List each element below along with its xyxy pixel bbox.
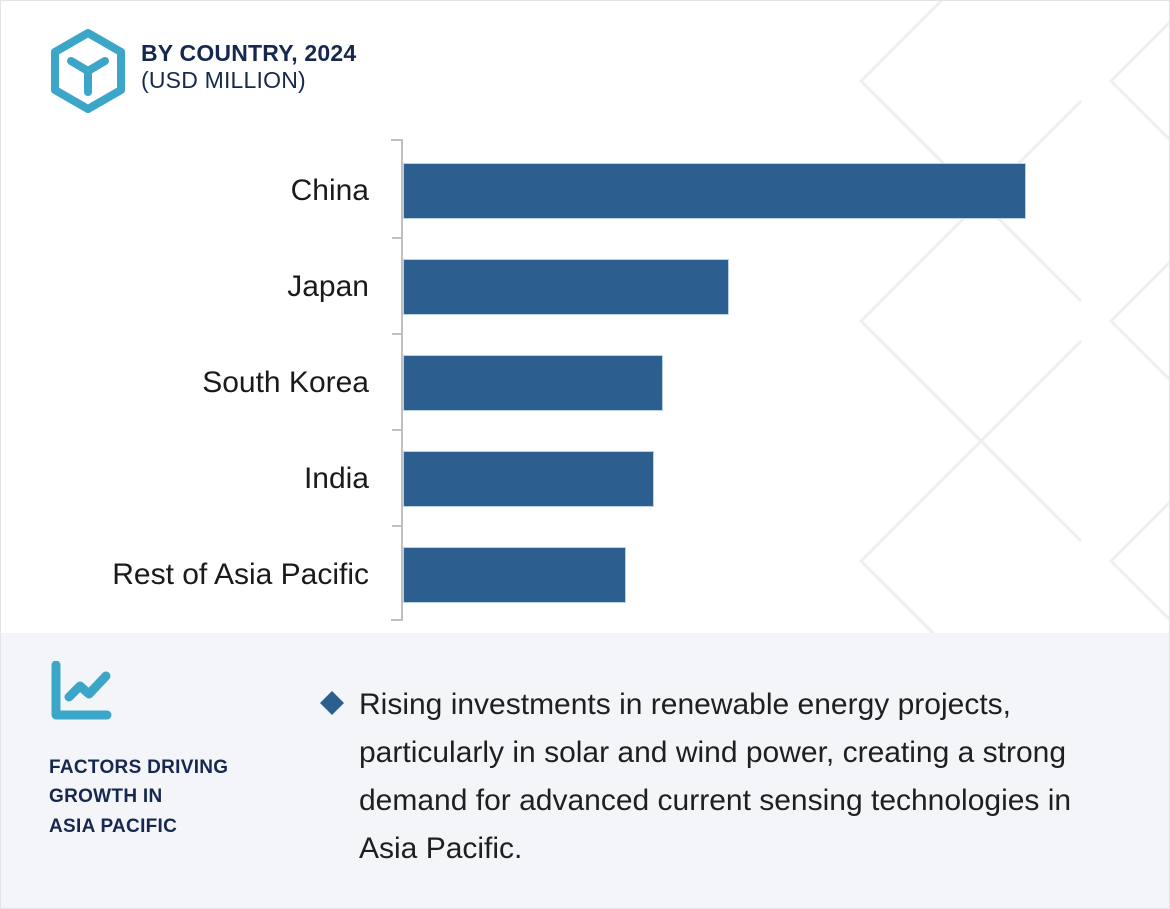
panel-right-column: Rising investments in renewable energy p… [311,633,1170,909]
bar [403,259,729,315]
panel-heading-line-1: FACTORS DRIVING [49,753,311,782]
bar-row: Rest of Asia Pacific [1,527,1170,623]
plot-area: ChinaJapanSouth KoreaIndiaRest of Asia P… [1,131,1170,626]
panel-heading: FACTORS DRIVING GROWTH IN ASIA PACIFIC [49,753,311,841]
bar-category-label: South Korea [202,368,369,398]
hexagon-y-logo-icon [49,29,127,113]
panel-heading-line-2: GROWTH IN [49,782,311,811]
header-text-block: BY COUNTRY, 2024 (USD MILLION) [141,29,356,94]
panel-heading-line-3: ASIA PACIFIC [49,812,311,841]
bar-row: India [1,431,1170,527]
page-title: BY COUNTRY, 2024 [141,40,356,67]
bar [403,355,663,411]
chart-header: BY COUNTRY, 2024 (USD MILLION) [49,29,356,113]
bar [403,547,626,603]
bar [403,163,1026,219]
bar [403,451,654,507]
line-chart-growth-icon [49,661,121,725]
bar-category-label: China [291,176,369,206]
panel-left-column: FACTORS DRIVING GROWTH IN ASIA PACIFIC [1,633,311,909]
page-subtitle: (USD MILLION) [141,67,356,94]
bar-row: South Korea [1,335,1170,431]
bar-row: Japan [1,239,1170,335]
bar-row: China [1,143,1170,239]
bar-category-label: Japan [287,272,369,302]
factors-driving-growth-panel: FACTORS DRIVING GROWTH IN ASIA PACIFIC R… [1,633,1170,909]
diamond-bullet-icon [319,690,345,716]
bar-category-label: Rest of Asia Pacific [112,560,369,590]
bar-chart: ChinaJapanSouth KoreaIndiaRest of Asia P… [1,131,1170,626]
panel-body-text: Rising investments in renewable energy p… [359,681,1079,909]
bar-category-label: India [304,464,369,494]
country-chart-card: BY COUNTRY, 2024 (USD MILLION) ChinaJapa… [0,0,1170,909]
